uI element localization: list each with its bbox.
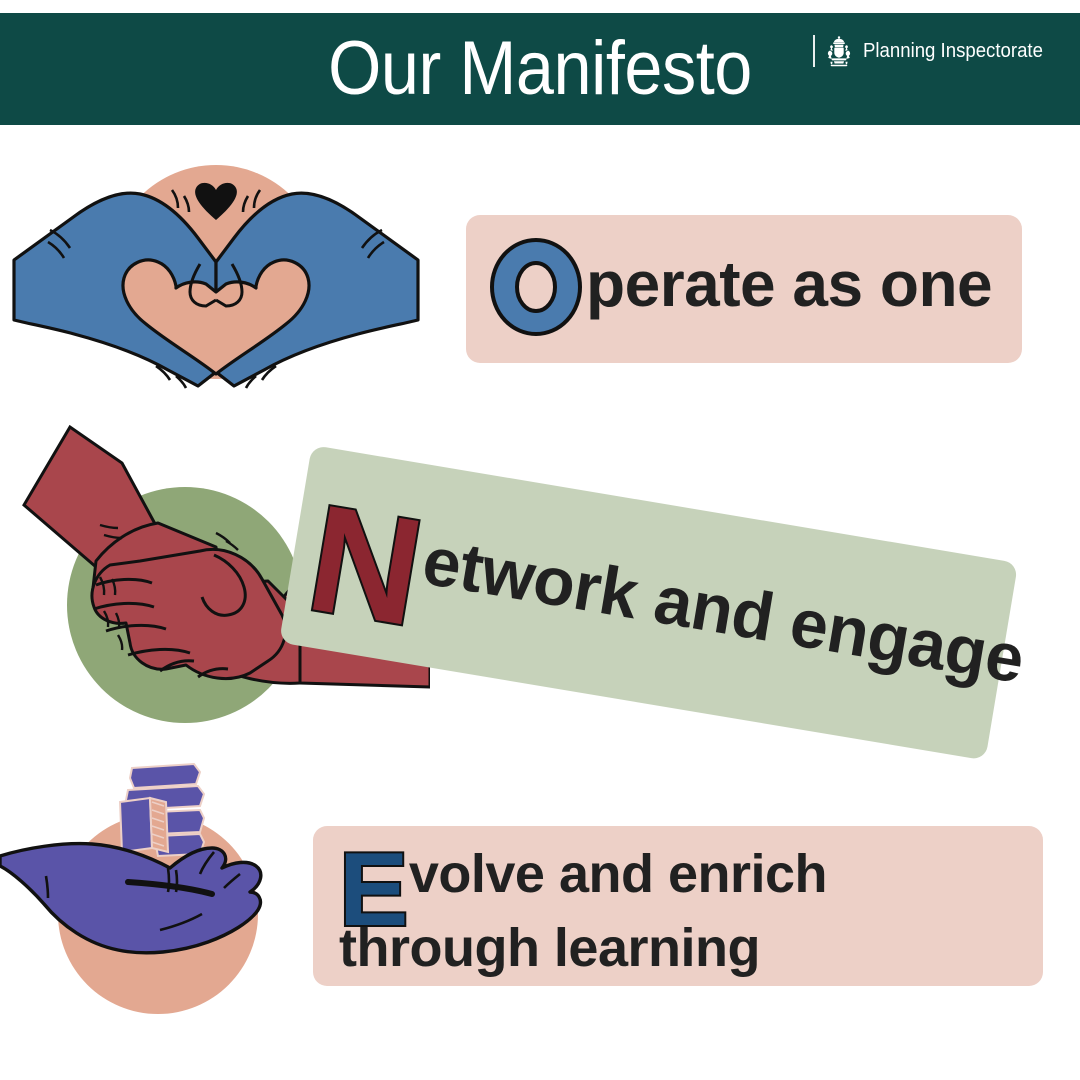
logo-divider-icon — [813, 35, 815, 67]
initial-letter-o — [488, 236, 584, 338]
value-banner-evolve-and-enrich[interactable]: Evolve and enrich through learning — [313, 826, 1043, 986]
hand-holding-books-illustration — [0, 752, 330, 1042]
initial-letter-e: E — [339, 854, 408, 926]
manifesto-poster: Our Manifesto — [0, 0, 1080, 1080]
page-header: Our Manifesto — [0, 13, 1080, 125]
royal-crest-icon — [824, 35, 854, 67]
value-text-evolve-and-enrich: Evolve and enrich through learning — [339, 826, 1029, 982]
value-text-operate-as-one: perate as one — [488, 238, 992, 340]
logo-label: Planning Inspectorate — [863, 40, 1043, 63]
value-rest-network-and-engage: etwork and engage — [418, 523, 1030, 698]
page-title: Our Manifesto — [54, 17, 1026, 121]
initial-letter-n: N — [302, 498, 429, 632]
heart-hands-illustration — [0, 142, 432, 412]
value-rest-operate-as-one: perate as one — [586, 248, 992, 320]
organisation-logo: Planning Inspectorate — [813, 35, 1056, 67]
book-stack-icon — [120, 764, 204, 856]
value-banner-operate-as-one[interactable]: perate as one — [466, 215, 1022, 363]
value-rest-evolve-and-enrich: volve and enrich through learning — [339, 844, 827, 978]
